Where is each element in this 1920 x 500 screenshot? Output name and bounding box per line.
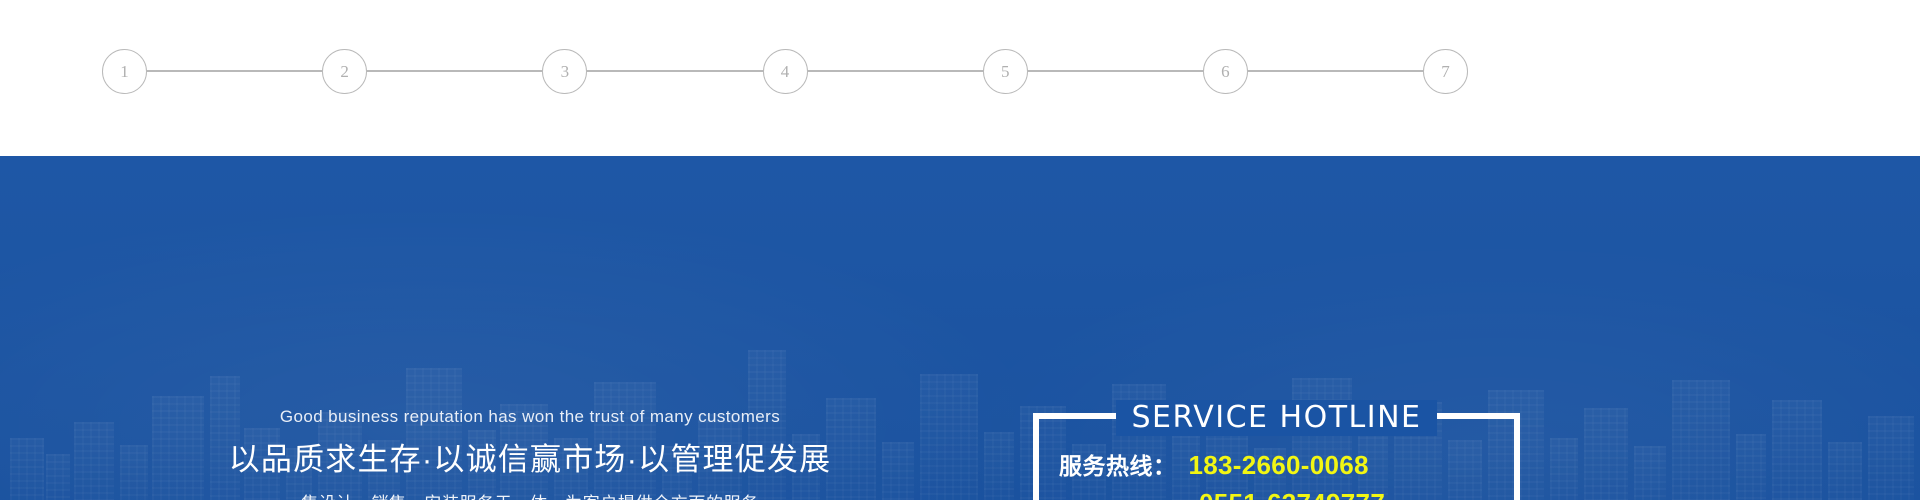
stepper-connector-6-7 [1247, 70, 1424, 73]
stepper-step-6[interactable]: 6 [1203, 49, 1248, 94]
stepper-connector-5-6 [1027, 70, 1204, 73]
stepper-step-3[interactable]: 3 [542, 49, 587, 94]
hotline-phone-secondary[interactable]: 0551-63749777 [1199, 486, 1385, 500]
step-progress-bar: 1 2 3 4 5 6 7 [102, 48, 1468, 94]
stepper-connector-3-4 [586, 70, 763, 73]
tagline-block: Good business reputation has won the tru… [180, 406, 880, 500]
stepper-step-2-number: 2 [340, 63, 349, 80]
stepper-section: 1 2 3 4 5 6 7 [0, 0, 1920, 156]
hotline-row-secondary: 0551-63749777 [1059, 486, 1514, 500]
promo-banner: Good business reputation has won the tru… [0, 156, 1920, 500]
stepper-step-4[interactable]: 4 [763, 49, 808, 94]
stepper-step-7-number: 7 [1441, 63, 1450, 80]
hotline-label: 服务热线： [1059, 449, 1177, 483]
service-hotline-box: SERVICE HOTLINE 服务热线： 183-2660-0068 0551… [1033, 413, 1520, 500]
stepper-step-2[interactable]: 2 [322, 49, 367, 94]
stepper-step-7[interactable]: 7 [1423, 49, 1468, 94]
stepper-step-1-number: 1 [120, 63, 129, 80]
tagline-chinese-sub: 集设计、销售、安装服务于一体，为客户提供全方面的服务 [180, 493, 880, 500]
stepper-connector-2-3 [366, 70, 543, 73]
stepper-step-5-number: 5 [1001, 63, 1010, 80]
stepper-step-5[interactable]: 5 [983, 49, 1028, 94]
stepper-connector-1-2 [146, 70, 323, 73]
stepper-step-3-number: 3 [561, 63, 570, 80]
tagline-chinese-main: 以品质求生存·以诚信赢市场·以管理促发展 [180, 439, 880, 481]
stepper-step-1[interactable]: 1 [102, 49, 147, 94]
stepper-step-4-number: 4 [781, 63, 790, 80]
hotline-row-primary: 服务热线： 183-2660-0068 [1059, 448, 1514, 483]
service-hotline-title: SERVICE HOTLINE [1116, 400, 1438, 436]
hotline-rows: 服务热线： 183-2660-0068 0551-63749777 [1039, 448, 1514, 500]
stepper-connector-4-5 [807, 70, 984, 73]
tagline-english: Good business reputation has won the tru… [180, 406, 880, 428]
stepper-step-6-number: 6 [1221, 63, 1230, 80]
hotline-phone-primary[interactable]: 183-2660-0068 [1189, 448, 1369, 482]
